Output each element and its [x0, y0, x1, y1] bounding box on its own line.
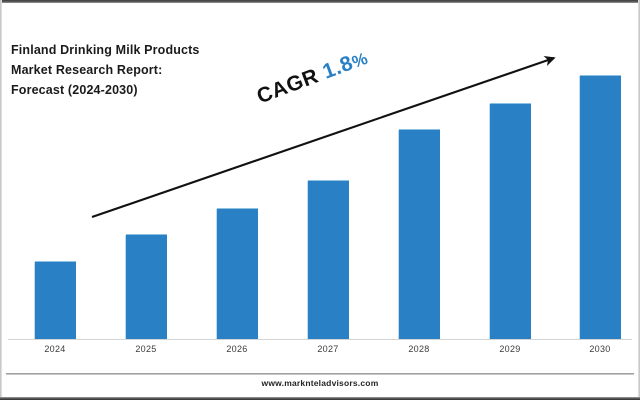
x-tick-2029: 2029: [480, 344, 540, 354]
bar-2024: [35, 261, 76, 339]
footer-url: www.marknteladvisors.com: [0, 378, 640, 388]
x-tick-2030: 2030: [570, 344, 630, 354]
x-tick-2024: 2024: [25, 344, 85, 354]
bar-2029: [490, 103, 531, 339]
bar-2026: [217, 208, 258, 339]
x-tick-2025: 2025: [116, 344, 176, 354]
x-tick-2028: 2028: [389, 344, 449, 354]
bar-2028: [399, 129, 440, 339]
chart-image: Finland Drinking Milk Products Market Re…: [0, 0, 640, 400]
footer-separator: [6, 373, 634, 375]
x-tick-2027: 2027: [298, 344, 358, 354]
plot-area: 2024 2025 2026 2027 2028 2029 2030: [0, 0, 640, 400]
bar-2025: [126, 234, 167, 339]
bar-2027: [308, 180, 349, 339]
bar-2030: [580, 75, 621, 339]
x-tick-2026: 2026: [207, 344, 267, 354]
x-axis-line: [8, 339, 632, 340]
